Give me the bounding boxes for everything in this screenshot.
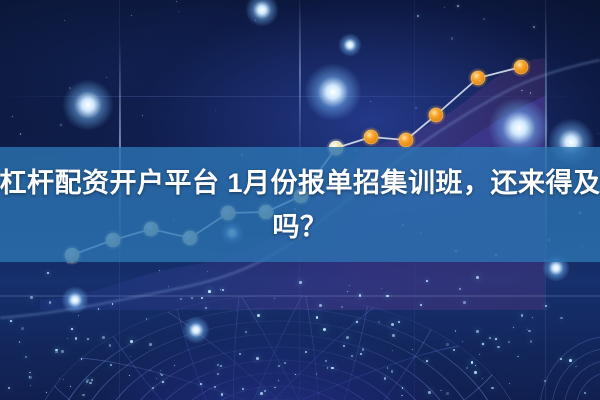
particle <box>130 356 131 357</box>
particle <box>446 392 449 395</box>
particle <box>264 390 267 393</box>
particle <box>259 4 261 6</box>
particle <box>428 391 431 394</box>
particle <box>82 394 84 396</box>
particle <box>112 303 114 305</box>
particle <box>156 378 157 379</box>
particle <box>29 372 30 373</box>
particle <box>109 344 111 346</box>
particle <box>471 361 473 363</box>
particle <box>370 101 371 102</box>
particle <box>87 338 89 340</box>
particle <box>150 370 151 371</box>
particle <box>347 291 348 292</box>
particle <box>521 90 523 92</box>
particle <box>453 349 455 351</box>
particle <box>102 336 105 339</box>
particle <box>528 330 531 333</box>
particle <box>463 301 466 304</box>
light-glow <box>61 286 90 315</box>
particle <box>381 288 382 289</box>
particle <box>495 338 497 340</box>
particle <box>475 365 476 366</box>
particle <box>222 289 224 291</box>
particle <box>316 373 317 374</box>
particle <box>60 124 61 125</box>
particle <box>387 367 388 368</box>
particle <box>362 348 364 350</box>
particle <box>245 331 247 333</box>
particle <box>67 338 68 339</box>
particle <box>462 341 463 342</box>
particle <box>440 390 441 391</box>
particle <box>489 337 491 339</box>
particle <box>63 379 64 380</box>
particle <box>530 340 533 343</box>
particle <box>257 314 260 317</box>
particle <box>78 315 79 316</box>
particle <box>455 330 457 332</box>
particle <box>10 320 12 322</box>
particle <box>284 362 286 364</box>
banner-image: 杠杆配资开户平台 1月份报单招集训班，还来得及 吗？ <box>0 0 600 400</box>
particle <box>106 77 107 78</box>
particle <box>530 92 532 94</box>
page-title: 杠杆配资开户平台 1月份报单招集训班，还来得及 吗？ <box>0 147 600 262</box>
particle <box>160 370 161 371</box>
particle <box>278 380 279 381</box>
particle <box>168 286 169 287</box>
particle <box>479 354 480 355</box>
particle <box>89 382 92 385</box>
particle <box>483 18 485 20</box>
particle <box>598 133 599 134</box>
particle <box>146 318 147 319</box>
particle <box>533 26 535 28</box>
particle <box>30 296 33 299</box>
particle <box>446 343 449 346</box>
particle <box>110 364 112 366</box>
particle <box>497 346 500 349</box>
particle <box>392 350 393 351</box>
particle <box>129 375 130 376</box>
particle <box>401 395 402 396</box>
particle <box>274 298 275 299</box>
particle <box>415 107 417 109</box>
particle <box>98 308 99 309</box>
particle <box>474 371 477 374</box>
particle <box>91 379 93 381</box>
light-glow <box>245 0 279 27</box>
particle <box>215 110 216 111</box>
particle <box>391 370 394 373</box>
particle <box>274 387 275 388</box>
particle <box>256 357 259 360</box>
particle <box>479 80 481 82</box>
particle <box>220 289 221 290</box>
particle <box>384 377 387 380</box>
particle <box>20 133 21 134</box>
particle <box>255 20 256 21</box>
particle <box>19 341 21 343</box>
particle <box>323 328 326 331</box>
particle <box>29 376 30 377</box>
particle <box>59 378 60 379</box>
particle <box>205 307 207 309</box>
title-line-2: 吗？ <box>273 205 328 249</box>
particle <box>398 321 400 323</box>
particle <box>299 281 301 283</box>
particle <box>47 272 49 274</box>
particle <box>49 301 51 303</box>
particle <box>21 327 24 330</box>
particle <box>575 366 576 367</box>
particle <box>8 387 10 389</box>
particle <box>221 393 223 395</box>
particle <box>12 116 13 117</box>
particle <box>356 321 358 323</box>
particle <box>386 295 388 297</box>
particle <box>70 386 71 387</box>
particle <box>220 365 222 367</box>
particle <box>532 317 533 318</box>
particle <box>325 360 327 362</box>
particle <box>457 5 459 7</box>
light-glow <box>338 33 362 57</box>
particle <box>392 334 395 337</box>
particle <box>451 37 453 39</box>
particle <box>278 365 280 367</box>
particle <box>191 297 193 299</box>
particle <box>207 271 208 272</box>
particle <box>426 280 428 282</box>
particle <box>359 294 362 297</box>
particle <box>81 358 82 359</box>
particle <box>584 392 586 394</box>
particle <box>176 1 177 2</box>
particle <box>316 316 319 319</box>
particle <box>402 387 403 388</box>
particle <box>61 350 64 353</box>
particle <box>152 387 154 389</box>
particle <box>319 304 322 307</box>
particle <box>200 383 202 385</box>
particle <box>149 343 152 346</box>
particle <box>305 351 307 353</box>
particle <box>242 388 244 390</box>
particle <box>349 285 350 286</box>
particle <box>420 304 422 306</box>
particle <box>201 297 203 299</box>
particle <box>159 270 160 271</box>
particle <box>75 337 78 340</box>
particle <box>208 290 211 293</box>
particle <box>459 288 461 290</box>
particle <box>217 364 219 366</box>
particle <box>64 20 65 21</box>
particle <box>391 323 394 326</box>
particle <box>239 353 241 355</box>
particle <box>482 343 483 344</box>
particle <box>417 15 419 17</box>
particle <box>544 380 545 381</box>
particle <box>444 7 445 8</box>
particle <box>46 392 47 393</box>
particle <box>378 321 380 323</box>
particle <box>476 330 478 332</box>
particle <box>55 351 58 354</box>
particle <box>491 387 494 390</box>
particle <box>466 367 468 369</box>
particle <box>130 340 133 343</box>
particle <box>131 15 132 16</box>
particle <box>360 353 362 355</box>
particle <box>513 327 514 328</box>
particle <box>482 378 483 379</box>
particle <box>476 276 479 279</box>
particle <box>560 317 562 319</box>
particle <box>174 365 175 366</box>
particle <box>521 314 523 316</box>
particle <box>295 374 296 375</box>
particle <box>25 356 27 358</box>
particle <box>217 373 219 375</box>
particle <box>346 336 349 339</box>
particle <box>180 298 182 300</box>
particle <box>509 383 510 384</box>
particle <box>178 11 179 12</box>
particle <box>142 115 143 116</box>
light-glow <box>182 316 211 345</box>
light-glow <box>304 63 362 121</box>
title-line-1: 杠杆配资开户平台 1月份报单招集训班，还来得及 <box>0 161 600 205</box>
particle <box>508 341 510 343</box>
particle <box>351 355 353 357</box>
particle <box>426 360 428 362</box>
particle <box>343 345 345 347</box>
particle <box>260 392 263 395</box>
particle <box>214 386 216 388</box>
particle <box>560 358 562 360</box>
particle <box>162 381 164 383</box>
particle <box>545 305 547 307</box>
particle <box>331 367 333 369</box>
particle <box>412 349 413 350</box>
particle <box>341 306 343 308</box>
particle <box>71 328 73 330</box>
particle <box>569 359 572 362</box>
particle <box>327 367 329 369</box>
particle <box>30 385 31 386</box>
particle <box>517 356 518 357</box>
